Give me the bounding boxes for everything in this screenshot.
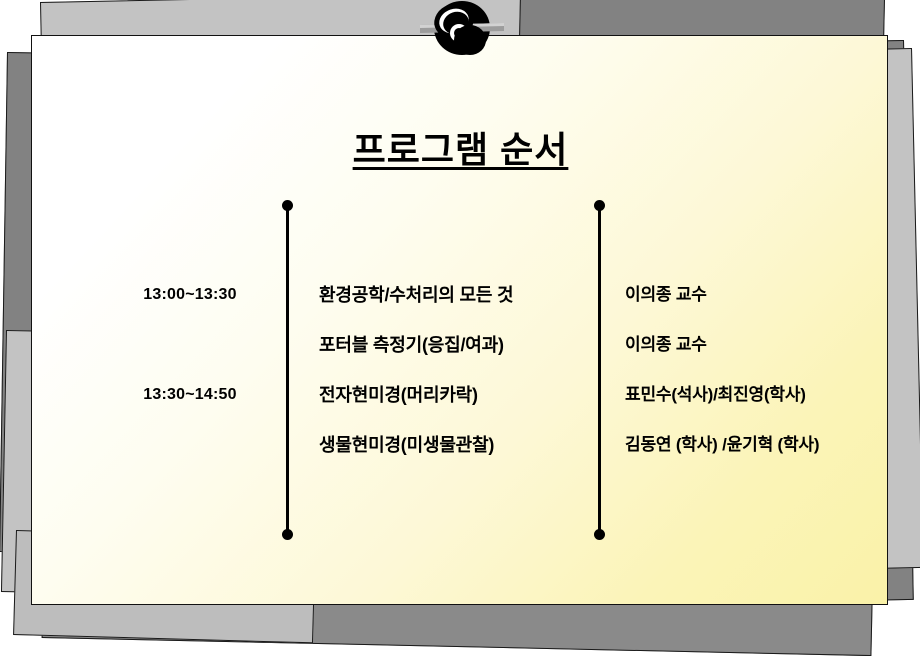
table-row: 13:30~14:50 전자현미경(머리카락) 표민수(석사)/최진영(학사) [32, 370, 888, 420]
schedule-presenter: 이의종 교수 [625, 270, 707, 320]
schedule-program: 생물현미경(미생물관찰) [319, 420, 494, 470]
schedule-program: 전자현미경(머리카락) [319, 370, 478, 420]
schedule-time: 13:00~13:30 [110, 270, 270, 320]
page-title: 프로그램 순서 [32, 121, 888, 173]
table-row: 포터블 측정기(응집/여과) 이의종 교수 [32, 320, 888, 370]
binder-clip-icon [414, 0, 510, 60]
schedule-table: 13:00~13:30 환경공학/수처리의 모든 것 이의종 교수 포터블 측정… [32, 270, 888, 470]
main-paper-sheet: 프로그램 순서 13:00~13:30 환경공학/수처리의 모든 것 이의종 교… [31, 35, 888, 605]
schedule-program: 환경공학/수처리의 모든 것 [319, 270, 513, 320]
table-row: 13:00~13:30 환경공학/수처리의 모든 것 이의종 교수 [32, 270, 888, 320]
presentation-slide: 프로그램 순서 13:00~13:30 환경공학/수처리의 모든 것 이의종 교… [0, 0, 920, 649]
schedule-presenter: 김동연 (학사) /윤기혁 (학사) [625, 420, 819, 470]
table-row: 생물현미경(미생물관찰) 김동연 (학사) /윤기혁 (학사) [32, 420, 888, 470]
schedule-time: 13:30~14:50 [110, 370, 270, 420]
schedule-presenter: 이의종 교수 [625, 320, 707, 370]
schedule-program: 포터블 측정기(응집/여과) [319, 320, 504, 370]
schedule-presenter: 표민수(석사)/최진영(학사) [625, 370, 806, 420]
